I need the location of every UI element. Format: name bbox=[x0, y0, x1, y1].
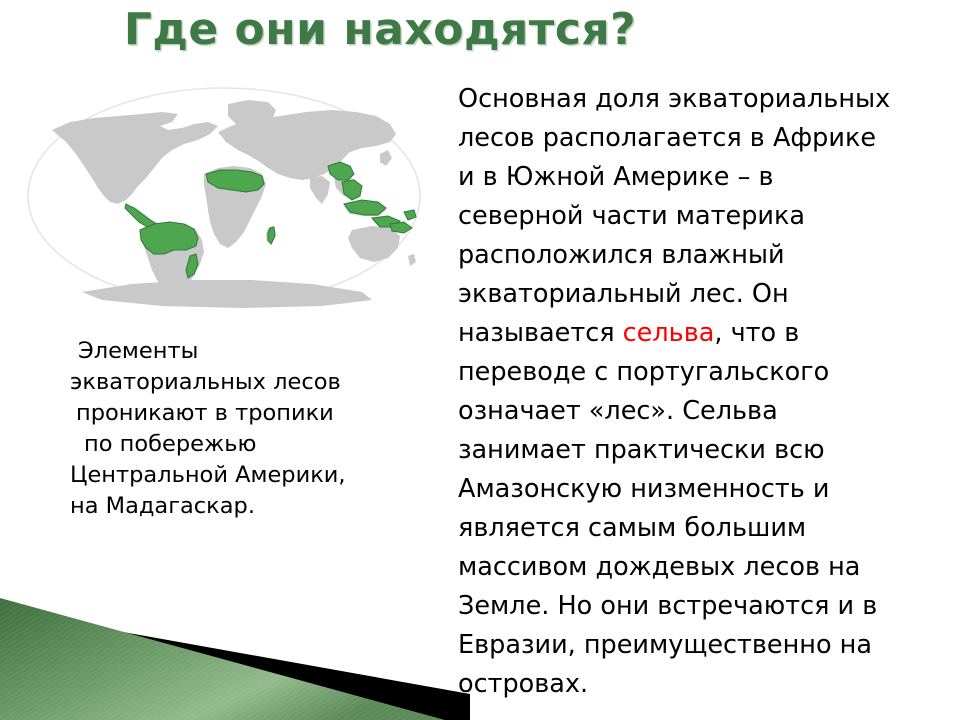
left-text-line: по побережью bbox=[62, 429, 422, 460]
corner-black-stripe bbox=[0, 610, 470, 720]
right-text-line: экваториальный лес. Он bbox=[458, 275, 958, 314]
left-text-line: Центральной Америки, bbox=[62, 460, 422, 491]
page-title: Где они находятся? bbox=[0, 4, 760, 55]
keyword-prefix: называется bbox=[458, 318, 623, 348]
right-text-line: Евразии, преимущественно на bbox=[458, 626, 958, 665]
corner-green-triangle bbox=[0, 598, 445, 720]
right-body-text: Основная доля экваториальных лесов распо… bbox=[458, 80, 958, 704]
corner-green-texture bbox=[0, 598, 445, 720]
left-body-text: Элементы экваториальных лесов проникают … bbox=[62, 336, 422, 522]
corner-gray-wedge bbox=[0, 614, 470, 720]
right-text-line: означает «лес». Сельва bbox=[458, 392, 958, 431]
right-text-line: островах. bbox=[458, 665, 958, 704]
right-text-line: лесов располагается в Африке bbox=[458, 119, 958, 158]
bottom-left-corner-decoration bbox=[0, 570, 470, 720]
right-text-line: массивом дождевых лесов на bbox=[458, 548, 958, 587]
right-text-line: северной части материка bbox=[458, 197, 958, 236]
left-text-line: Элементы bbox=[62, 336, 422, 367]
world-map-image bbox=[22, 78, 426, 322]
right-text-line-with-keyword: называется сельва, что в bbox=[458, 314, 958, 353]
keyword-suffix: , что в bbox=[714, 318, 799, 348]
right-text-line: расположился влажный bbox=[458, 236, 958, 275]
left-text-line: на Мадагаскар. bbox=[62, 491, 422, 522]
right-text-line: Основная доля экваториальных bbox=[458, 80, 958, 119]
right-text-line: является самым большим bbox=[458, 509, 958, 548]
right-text-line: занимает практически всю bbox=[458, 431, 958, 470]
right-text-line: Амазонскую низменность и bbox=[458, 470, 958, 509]
keyword-selva: сельва bbox=[623, 318, 715, 348]
right-text-line: переводе с португальского bbox=[458, 353, 958, 392]
slide-canvas: Где они находятся? bbox=[0, 0, 960, 720]
right-text-line: Земле. Но они встречаются и в bbox=[458, 587, 958, 626]
left-text-line: экваториальных лесов bbox=[62, 367, 422, 398]
right-text-line: и в Южной Америке – в bbox=[458, 158, 958, 197]
left-text-line: проникают в тропики bbox=[62, 398, 422, 429]
